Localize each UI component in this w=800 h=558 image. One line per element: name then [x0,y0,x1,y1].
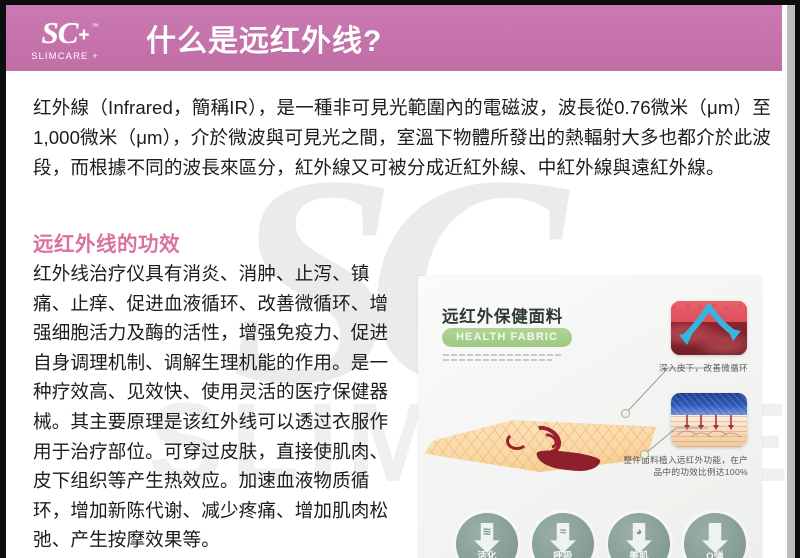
scrollbar-track[interactable] [787,0,795,558]
feature-label: Q弹 [706,552,724,558]
logo-initials: SC [41,15,77,50]
frame-edge-left [0,0,6,558]
section-heading: 远红外线的功效 [33,227,180,257]
frame-edge-top [0,0,800,5]
brand-logo[interactable]: SC+™ SLIMCARE + [6,7,124,69]
breath-waves-icon: ≈ [560,527,566,538]
slide-page: SC SLIMCARE SC+™ SLIMCARE + 什么是远红外线? 红外線… [0,0,800,558]
frame-edge-right [795,0,800,558]
callout-leader-lines [418,276,762,558]
page-title: 什么是远红外线? [124,16,782,60]
logo-wordmark: SLIMCARE + [31,51,99,62]
feature-label: 美肌 [629,552,649,558]
intro-paragraph: 红外線（Infrared，簡稱IR），是一種非可見光範圍內的電磁波，波長從0.7… [33,93,771,183]
section-paragraph: 红外线治疗仪具有消炎、消肿、止泻、镇痛、止痒、促进血液循环、改善微循环、增强细胞… [33,259,391,555]
callout-node-upper [621,409,630,418]
feature-label: 活化 [477,552,497,558]
callout-node-lower [640,450,649,459]
logo-mark: SC+™ [41,17,88,48]
fabric-illustration-panel: 远红外保健面料 HEALTH FABRIC [418,276,762,558]
face-icon: ◕ [636,527,643,538]
trademark-icon: ™ [92,23,98,30]
heat-waves-icon: ≋ [482,527,491,538]
page-header: SC+™ SLIMCARE + 什么是远红外线? [6,5,782,71]
logo-plus-icon: + [78,25,88,46]
feature-label: 呼吸 [553,552,573,558]
